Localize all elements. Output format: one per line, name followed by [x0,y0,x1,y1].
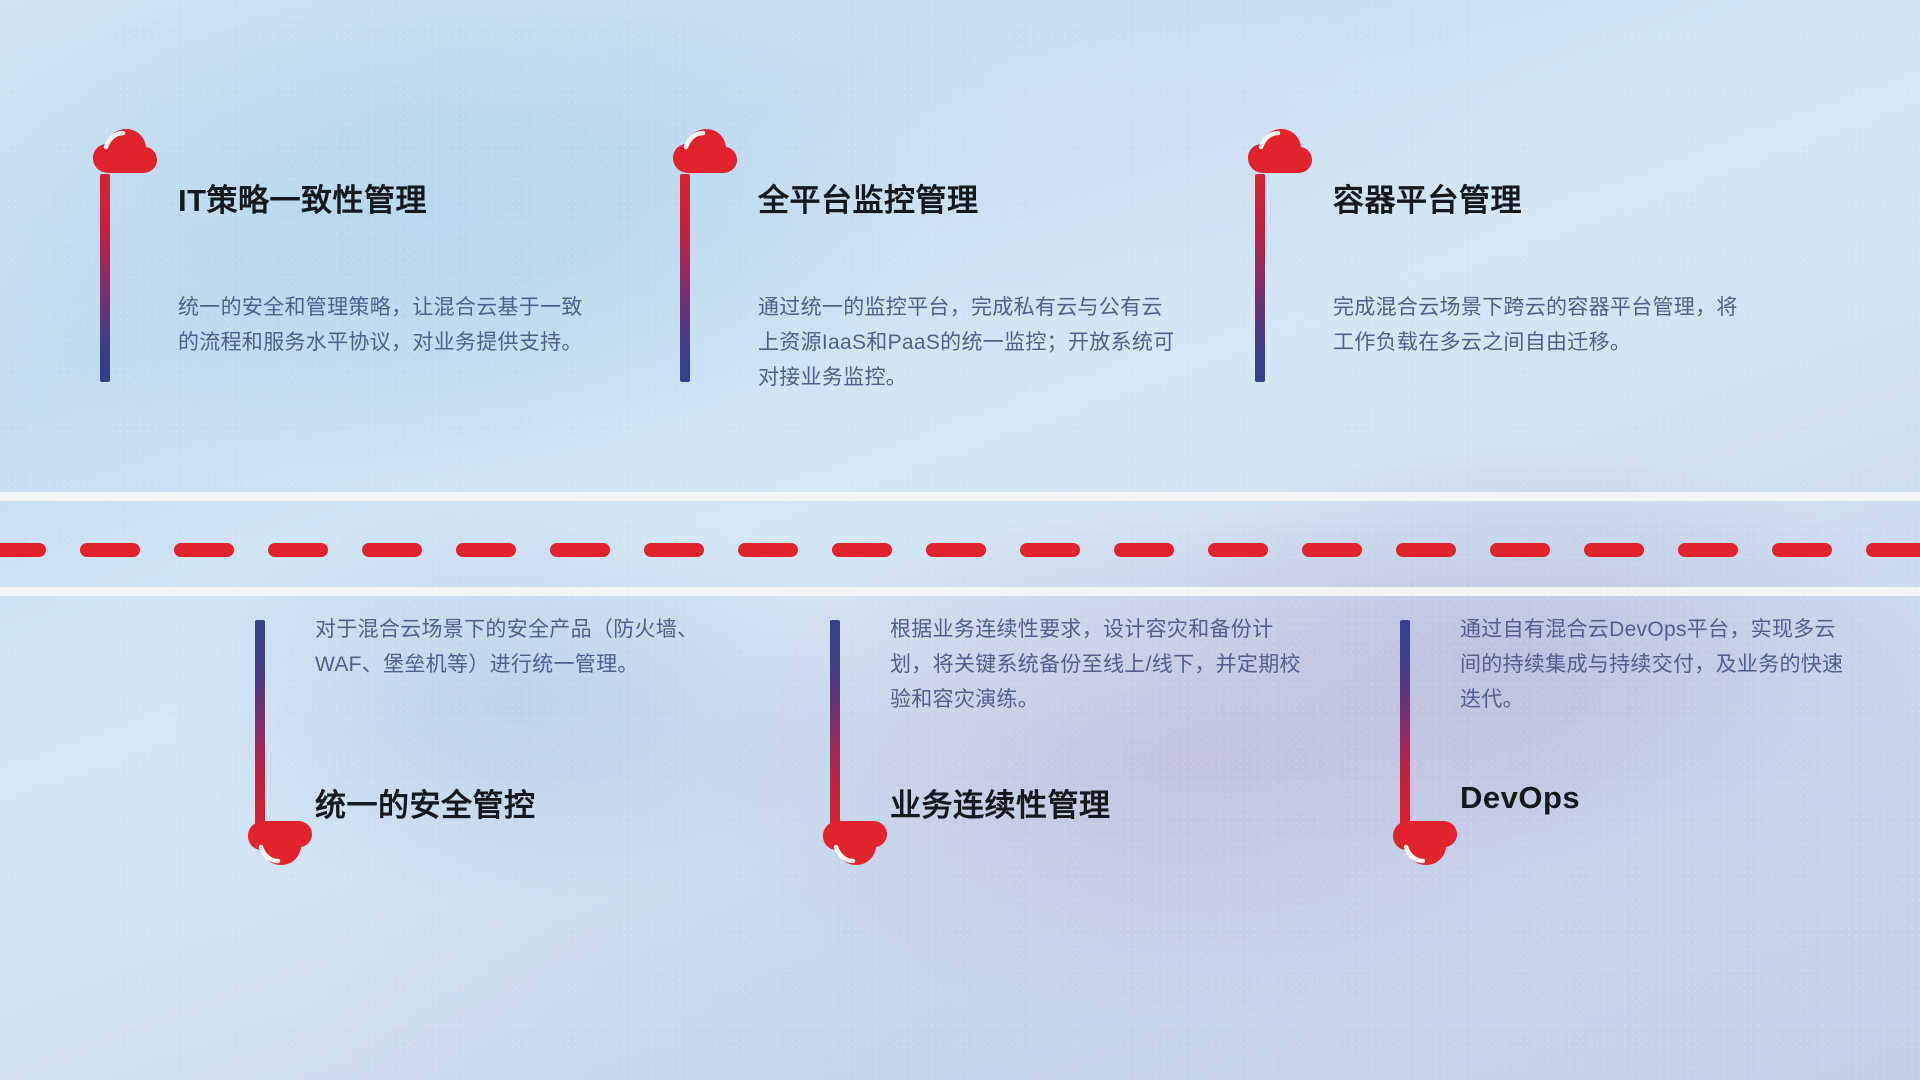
divider-dash [456,543,516,557]
divider-dash [1020,543,1080,557]
top-description-3: 完成混合云场景下跨云的容器平台管理，将工作负载在多云之间自由迁移。 [1333,290,1753,360]
divider-bar-bottom [0,587,1920,596]
divider-bar-top [0,492,1920,501]
top-title-1: IT策略一致性管理 [178,175,427,220]
background-texture [0,0,1920,1080]
top-title-2: 全平台监控管理 [758,175,979,220]
stem-line [1255,174,1265,382]
divider-dash [1208,543,1268,557]
divider-dash [1114,543,1174,557]
bottom-title-3: DevOps [1460,780,1580,816]
bottom-description-3: 通过自有混合云DevOps平台，实现多云间的持续集成与持续交付，及业务的快速迭代… [1460,612,1850,717]
divider-dash [644,543,704,557]
divider-dash [362,543,422,557]
bottom-title-2: 业务连续性管理 [890,780,1111,825]
bottom-description-2: 根据业务连续性要求，设计容灾和备份计划，将关键系统备份至线上/线下，并定期校验和… [890,612,1310,717]
divider-dash [1490,543,1550,557]
stem-line [100,174,110,382]
divider-dash [926,543,986,557]
top-description-2: 通过统一的监控平台，完成私有云与公有云上资源IaaS和PaaS的统一监控；开放系… [758,290,1178,395]
divider-dash [1772,543,1832,557]
cloud-icon [92,128,158,174]
divider-dash [1678,543,1738,557]
stem-line [830,620,840,828]
top-title-3: 容器平台管理 [1333,175,1522,220]
divider-dash [1396,543,1456,557]
bottom-description-1: 对于混合云场景下的安全产品（防火墙、WAF、堡垒机等）进行统一管理。 [315,612,735,682]
cloud-icon [672,128,738,174]
divider-dash [1866,543,1920,557]
cloud-icon [1392,820,1458,866]
divider-dash [550,543,610,557]
cloud-icon [247,820,313,866]
divider-dash [80,543,140,557]
top-description-1: 统一的安全和管理策略，让混合云基于一致的流程和服务水平协议，对业务提供支持。 [178,290,598,360]
divider-dash [738,543,798,557]
divider-dash [268,543,328,557]
divider-dash [0,543,46,557]
cloud-icon [822,820,888,866]
infographic-canvas: IT策略一致性管理 统一的安全和管理策略，让混合云基于一致的流程和服务水平协议，… [0,0,1920,1080]
divider-dash [1302,543,1362,557]
bottom-title-1: 统一的安全管控 [315,780,536,825]
stem-line [680,174,690,382]
dashed-divider-line [0,543,1920,557]
divider-dash [832,543,892,557]
divider-dash [174,543,234,557]
divider-dash [1584,543,1644,557]
cloud-icon [1247,128,1313,174]
stem-line [255,620,265,828]
stem-line [1400,620,1410,828]
